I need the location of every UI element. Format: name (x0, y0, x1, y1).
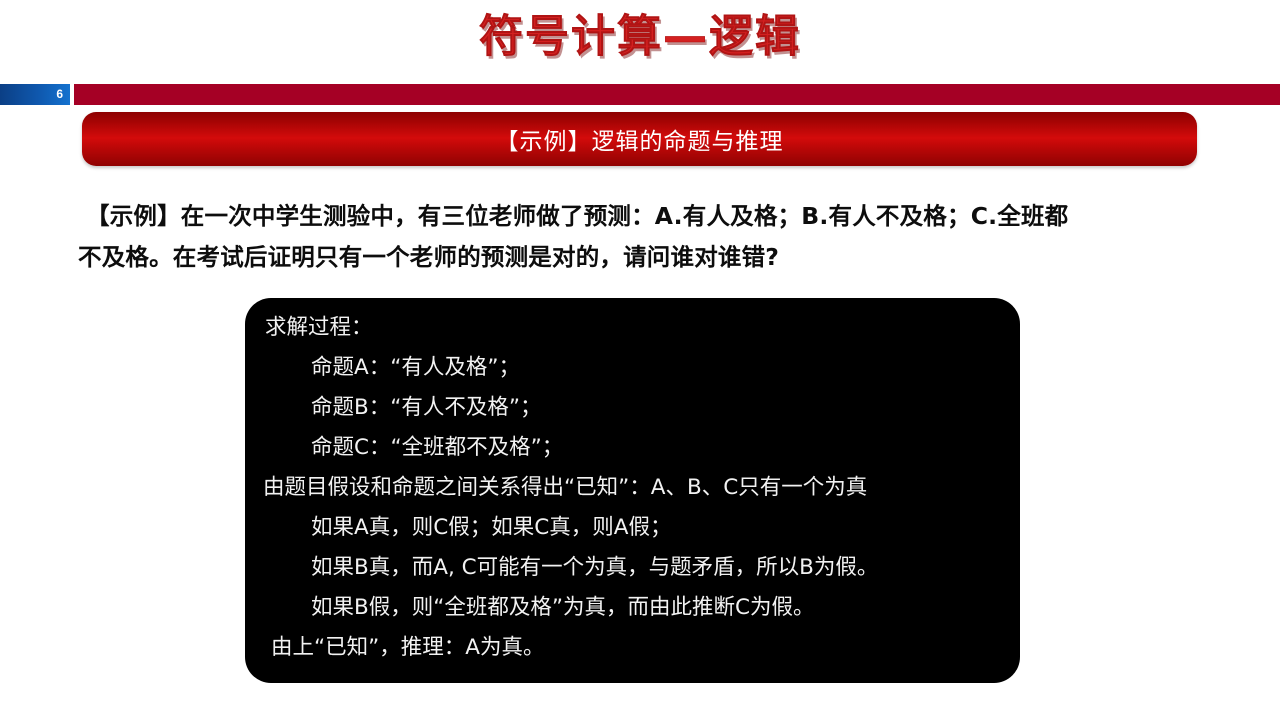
question-paragraph: 【示例】在一次中学生测验中，有三位老师做了预测：A.有人及格；B.有人不及格；C… (78, 196, 1208, 278)
header-strip: 6 (0, 84, 1280, 105)
header-accent-bar (74, 84, 1280, 105)
page-number: 6 (56, 85, 63, 104)
page-number-tab: 6 (0, 84, 70, 105)
question-line-2: 不及格。在考试后证明只有一个老师的预测是对的，请问谁对谁错? (78, 237, 1208, 278)
solution-line: 命题C：“全班都不及格”； (311, 428, 1020, 468)
solution-line: 命题A：“有人及格”； (311, 348, 1020, 388)
solution-line: 如果B假，则“全班都及格”为真，而由此推断C为假。 (311, 588, 1020, 628)
slide-title: 符号计算—逻辑 (0, 6, 1280, 68)
solution-line: 由题目假设和命题之间关系得出“已知”：A、B、C只有一个为真 (263, 468, 1020, 508)
section-banner: 【示例】逻辑的命题与推理 (82, 112, 1197, 166)
solution-line: 命题B：“有人不及格”； (311, 388, 1020, 428)
question-line-1: 【示例】在一次中学生测验中，有三位老师做了预测：A.有人及格；B.有人不及格；C… (78, 196, 1208, 237)
solution-box: 求解过程： 命题A：“有人及格”； 命题B：“有人不及格”； 命题C：“全班都不… (245, 298, 1020, 683)
solution-line: 如果B真，而A, C可能有一个为真，与题矛盾，所以B为假。 (311, 548, 1020, 588)
section-banner-title: 【示例】逻辑的命题与推理 (496, 122, 784, 156)
solution-heading: 求解过程： (265, 298, 1020, 348)
solution-line: 由上“已知”，推理：A为真。 (271, 628, 1020, 668)
solution-line: 如果A真，则C假；如果C真，则A假； (311, 508, 1020, 548)
